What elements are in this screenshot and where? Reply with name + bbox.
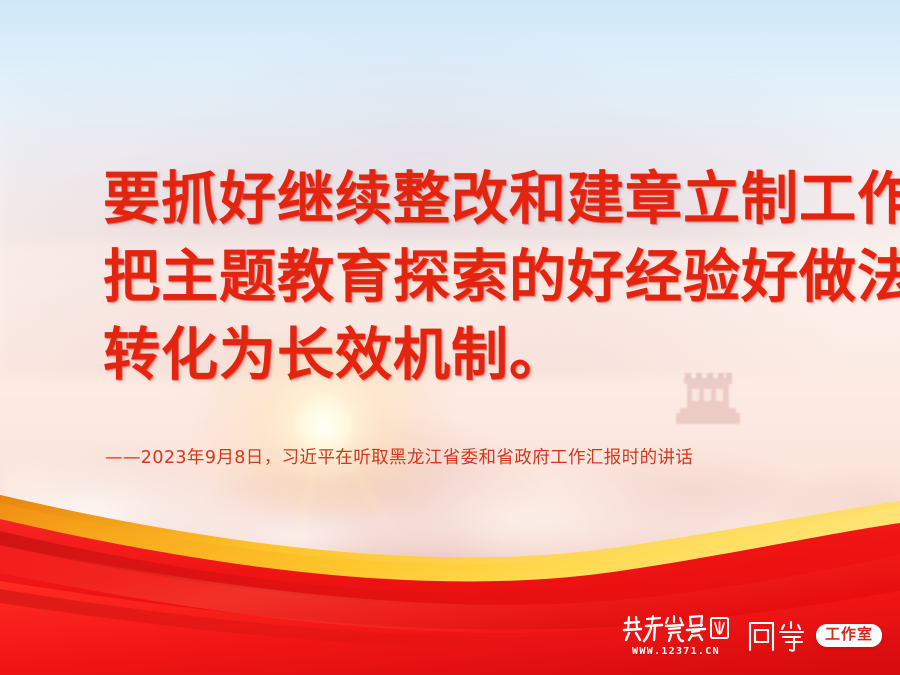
logo-gongchandangyuanwang-mark	[622, 614, 730, 644]
attribution-text: ——2023年9月8日，习近平在听取黑龙江省委和省政府工作汇报时的讲话	[105, 444, 693, 469]
logo-tongxue-studio[interactable]: 工作室	[746, 619, 882, 653]
tongxue-outline-icon	[746, 619, 810, 653]
tongxue-pill-label: 工作室	[816, 624, 882, 647]
headline-line-3: 转化为长效机制。	[103, 316, 843, 394]
logo-group: WWW.12371.CN	[622, 614, 882, 657]
tongxue-outline-chars	[746, 619, 810, 653]
poster-canvas: 要抓好继续整改和建章立制工作， 把主题教育探索的好经验好做法 转化为长效机制。 …	[0, 0, 900, 675]
logo-url-text: WWW.12371.CN	[632, 647, 720, 657]
logo-gongchandangyuanwang[interactable]: WWW.12371.CN	[622, 614, 730, 657]
headline-block: 要抓好继续整改和建章立制工作， 把主题教育探索的好经验好做法 转化为长效机制。	[103, 160, 843, 394]
headline-line-1: 要抓好继续整改和建章立制工作，	[103, 160, 843, 238]
headline-line-2: 把主题教育探索的好经验好做法	[103, 238, 843, 316]
calligraphy-gongchandangyuan-icon	[622, 614, 730, 644]
